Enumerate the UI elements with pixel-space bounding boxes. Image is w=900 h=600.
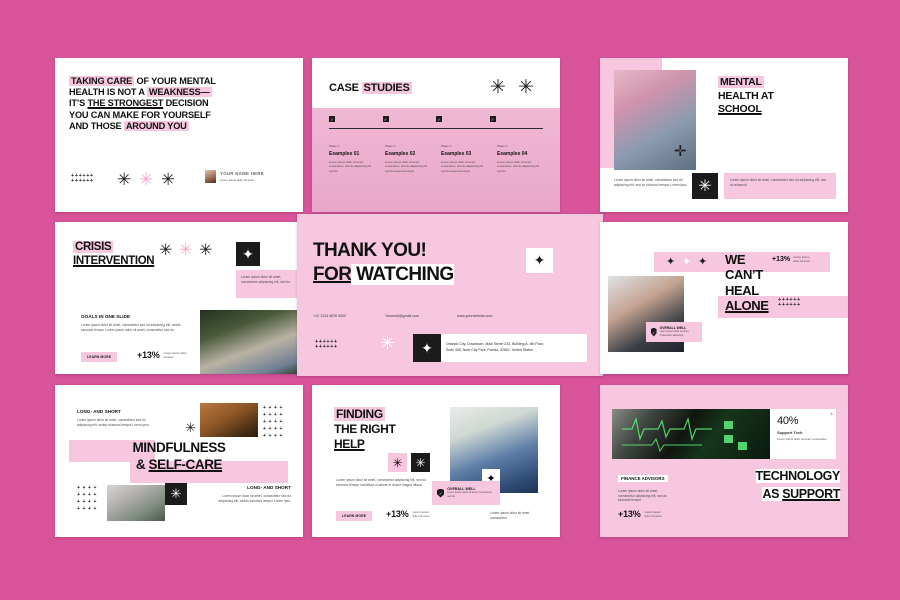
starburst-icon-2: ✳	[179, 243, 192, 259]
body-text: Lorem ipsum dolor sit amet, consectetur …	[336, 478, 432, 487]
timeline-nodes: ✓ ✓ ✓ ✓	[329, 116, 543, 122]
address-line-2: Suite 405, Near City Park, Florida, 3280…	[446, 348, 544, 354]
phase-label: Phase 3	[441, 144, 487, 148]
starburst-icon-2: ✳	[518, 78, 534, 97]
plus-grid-icon: ++++++++++++	[778, 298, 801, 307]
stat-big-body: Lorem ipsum dolor sit amet, consectetur	[777, 437, 829, 441]
overall-well-badge: ✓ OVERALL WELL Lorem ipsum dolor sit ame…	[646, 322, 702, 342]
slide-thumbnail-crisis-intervention[interactable]: CRISIS INTERVENTION ✳ ✳ ✳ ✦ Lorem ipsum …	[55, 222, 303, 374]
photo-monitor	[612, 409, 770, 459]
photo-caption: Lorem ipsum dolor sit amet, consectetur	[490, 511, 542, 520]
phase-label: Phase 1	[329, 144, 375, 148]
phase-label: Phase 4	[497, 144, 543, 148]
sparkle-icon-3: ✦	[698, 255, 707, 268]
timeline-node-4[interactable]: ✓	[490, 116, 496, 122]
title-line-2b: SUPPORT	[782, 487, 840, 501]
slide-thumbnail-finding-help[interactable]: FINDING THE RIGHT HELP ✳ ✳ Lorem ipsum d…	[312, 385, 560, 537]
shield-check-icon: ✓	[651, 328, 657, 337]
quote-highlight-3: AROUND YOU	[124, 121, 189, 131]
phase-heading: Examples 03	[441, 151, 487, 157]
stat-note: Lorem ipsum dolor sit amet	[645, 510, 667, 518]
quote-highlight-2: WEAKNESS—	[147, 87, 212, 97]
phase-heading: Examples 02	[385, 151, 431, 157]
contact-phone[interactable]: +22 1234 9876 9000	[313, 314, 385, 318]
contact-website[interactable]: www.yourwebsite.com	[457, 314, 537, 318]
side-note-card: Lorem ipsum dolor sit amet, consectetur …	[236, 270, 303, 298]
stat-note: Lorem ipsum dolor sit amet	[164, 351, 188, 359]
title-line-1: THANK YOU!	[313, 240, 454, 262]
photo-person-sitting	[200, 310, 303, 374]
slide-thumbnail-quote[interactable]: TAKING CARE OF YOUR MENTAL HEALTH IS NOT…	[55, 58, 303, 212]
bottom-body: Lorem ipsum dolor sit amet, consectetur …	[215, 494, 291, 503]
case-title-a: CASE	[329, 82, 362, 94]
phase-heading: Examples 01	[329, 151, 375, 157]
contact-row: +22 1234 9876 9000 Yourmail@gmail.com ww…	[313, 314, 587, 318]
shield-check-icon: ✓	[437, 489, 444, 498]
ekg-waveform-icon	[612, 409, 770, 459]
quote-text-1: OF YOUR MENTAL	[134, 76, 216, 86]
starburst-icon: ✳	[380, 334, 395, 352]
starburst-icon-3: ✳	[161, 171, 175, 188]
top-heading: LONG- AND SHORT	[77, 409, 157, 414]
stat-block: +13% Lorem ipsum dolor sit amet	[618, 509, 667, 519]
quote-text-4: YOU CAN MAKE FOR YOURSELF	[69, 110, 211, 120]
photo-sofa	[107, 485, 165, 521]
section-body: Lorem ipsum dolor sit amet, consectetur …	[618, 489, 674, 503]
plus-grid-icon: ++++++++++++	[315, 340, 338, 349]
contact-email[interactable]: Yourmail@gmail.com	[385, 314, 457, 318]
starburst-icon: ✳	[692, 173, 718, 199]
overall-well-badge: ✓ OVERALL WELL Lorem ipsum dolor sit ame…	[432, 481, 500, 505]
slide-thumbnail-thank-you[interactable]: THANK YOU! FOR WATCHING ✦ +22 1234 9876 …	[297, 214, 603, 376]
starburst-icon-1: ✳	[490, 78, 506, 97]
quote-text-2: HEALTH IS NOT A	[69, 87, 147, 97]
title-line-3: HEAL	[725, 283, 769, 298]
phase-heading: Examples 04	[497, 151, 543, 157]
top-body: Lorem ipsum dolor sit amet, consectetur …	[77, 418, 157, 427]
quote-text-3b: DECISION	[163, 98, 208, 108]
stat-value: +13%	[772, 256, 790, 263]
quote-highlight-1: TAKING CARE	[69, 76, 134, 86]
starburst-icon-3: ✳	[199, 243, 212, 259]
title-line-2: HEALTH AT	[718, 90, 774, 102]
timeline-node-2[interactable]: ✓	[383, 116, 389, 122]
title-line-2: CAN’T	[725, 267, 769, 282]
title-line-1: MENTAL	[718, 76, 764, 88]
stat-note: Lorem ipsum dolor sit amet	[413, 510, 435, 518]
timeline-item: Phase 2 Examples 02 Lorem ipsum dolor si…	[385, 144, 441, 173]
stat-block: +13% Lorem ipsum dolor sit amet	[772, 255, 813, 263]
timeline-node-1[interactable]: ✓	[329, 116, 335, 122]
learn-more-button[interactable]: LEARN MORE	[336, 511, 372, 521]
title-line-3: HELP	[334, 437, 365, 451]
side-note: Lorem ipsum dolor sit amet, consectetur …	[241, 275, 298, 284]
plus-grid-icon-1: + + + ++ + + ++ + + ++ + + ++ + + +	[263, 405, 283, 440]
phase-body: Lorem ipsum dolor sit amet, consectetur,…	[441, 160, 487, 173]
title-line-1: WE	[725, 252, 769, 267]
quote-text-5: AND THOSE	[69, 121, 124, 131]
stat-value: +13%	[618, 509, 641, 519]
plus-grid-icon: ++++++++++++	[71, 174, 94, 183]
stat-big-value: 40%	[777, 415, 829, 427]
badge-body: Lorem ipsum dolor sit amet, consectetur …	[660, 330, 697, 337]
bottom-heading: LONG- AND SHORT	[215, 485, 291, 490]
slide-thumbnail-mental-health-school[interactable]: ✛ MENTAL HEALTH AT SCHOOL Lorem ipsum do…	[600, 58, 848, 212]
title-line-2: INTERVENTION	[73, 255, 154, 267]
phase-body: Lorem ipsum dolor sit amet, consectetur,…	[497, 160, 543, 173]
quote-text-3: IT’S	[69, 98, 87, 108]
plus-grid-icon-2: + + + ++ + + ++ + + ++ + + +	[77, 485, 97, 513]
title-line-2: THE RIGHT	[334, 422, 452, 437]
title-line-1: MINDFULNESS	[55, 440, 303, 456]
section-heading: GOALS IN ONE SLIDE	[81, 314, 187, 319]
title-line-2b: WATCHING	[351, 264, 453, 285]
sparkle-icon: ✦	[526, 248, 553, 273]
author-subtitle: Lorem ipsum dolor sit amet	[220, 178, 264, 182]
title-line-1: FINDING	[334, 407, 385, 421]
starburst-icon-1: ✳	[117, 171, 131, 188]
note-card: Lorem ipsum dolor sit amet, consectetur …	[724, 173, 836, 199]
body-right: Lorem ipsum dolor sit amet, consectetur …	[730, 178, 830, 187]
stat-note: Lorem ipsum dolor sit amet	[793, 255, 813, 263]
address-card: ✦ Orlando City, Downtown, Main Street 23…	[413, 334, 587, 362]
starburst-icon-2: ✳	[411, 453, 430, 472]
sparkle-icon: ✦	[236, 242, 260, 266]
starburst-icon-1: ✳	[185, 421, 196, 434]
quote-underline-1: THE STRONGEST	[87, 98, 163, 108]
slide-thumbnail-heal-alone[interactable]: ✦ ✦ ✦ WE CAN’T HEAL ALONE +13% Lorem ips…	[600, 222, 848, 374]
avatar	[205, 170, 216, 183]
title-line-2a: FOR	[313, 264, 351, 285]
title-line-2a: AS	[762, 487, 782, 501]
plus-cross-icon: ✛	[674, 144, 687, 159]
body-left: Lorem ipsum dolor sit amet, consectetur …	[614, 178, 690, 187]
timeline-item: Phase 3 Examples 03 Lorem ipsum dolor si…	[441, 144, 497, 173]
title-line-3: SCHOOL	[718, 103, 762, 115]
section-body: Lorem ipsum dolor sit amet, consectetur …	[81, 323, 187, 332]
badge-body: Lorem ipsum dolor sit amet, consectetur …	[447, 491, 495, 499]
stat-card: 40% Support Tech Lorem ipsum dolor sit a…	[770, 409, 836, 459]
stat-big-label: Support Tech	[777, 430, 829, 435]
stat-block: +13% Lorem ipsum dolor sit amet	[137, 350, 188, 360]
stat-value: +13%	[137, 350, 160, 360]
timeline-item: Phase 1 Examples 01 Lorem ipsum dolor si…	[329, 144, 385, 173]
starburst-icon-2: ✳	[139, 171, 153, 188]
phase-body: Lorem ipsum dolor sit amet, consectetur,…	[329, 160, 375, 173]
title-line-1: CRISIS	[73, 241, 113, 253]
photo-couch	[200, 403, 258, 437]
case-title-b: STUDIES	[362, 82, 412, 94]
slide-thumbnail-case-studies[interactable]: CASE STUDIES ✳ ✳ ✓ ✓ ✓ ✓ Phase 1 Example…	[312, 58, 560, 212]
title-line-2a: &	[136, 457, 149, 472]
author-name: YOUR NAME HERE	[220, 171, 264, 176]
stat-value: +13%	[386, 509, 409, 519]
starburst-icon-2: ✳	[165, 483, 187, 505]
timeline-connector	[329, 128, 543, 129]
slide-thumbnail-mindfulness[interactable]: LONG- AND SHORT Lorem ipsum dolor sit am…	[55, 385, 303, 537]
slide-thumbnail-technology[interactable]: 40% Support Tech Lorem ipsum dolor sit a…	[600, 385, 848, 537]
phase-label: Phase 2	[385, 144, 431, 148]
slide-deck-grid: TAKING CARE OF YOUR MENTAL HEALTH IS NOT…	[0, 0, 900, 600]
title-line-2b: SELF-CARE	[149, 457, 223, 472]
timeline-item: Phase 4 Examples 04 Lorem ipsum dolor si…	[497, 144, 553, 173]
section-heading: FINANCE ADVISORS	[618, 475, 668, 482]
learn-more-button[interactable]: LEARN MORE	[81, 352, 117, 362]
timeline-node-3[interactable]: ✓	[436, 116, 442, 122]
starburst-icon-1: ✳	[159, 243, 172, 259]
sparkle-icon-2: ✦	[413, 334, 441, 362]
sparkle-icon-1: ✦	[666, 255, 675, 268]
starburst-icon-1: ✳	[388, 453, 407, 472]
sparkle-icon: ✦	[829, 411, 834, 418]
sparkle-icon-2: ✦	[682, 255, 691, 268]
timeline-panel: ✓ ✓ ✓ ✓ Phase 1 Examples 01 Lorem ipsum …	[312, 108, 560, 212]
author-card[interactable]: YOUR NAME HERE Lorem ipsum dolor sit ame…	[205, 170, 291, 183]
stat-block: +13% Lorem ipsum dolor sit amet	[386, 509, 435, 519]
title-line-1: TECHNOLOGY	[756, 469, 840, 483]
timeline-items: Phase 1 Examples 01 Lorem ipsum dolor si…	[329, 144, 553, 173]
title-line-4: ALONE	[725, 298, 769, 313]
phase-body: Lorem ipsum dolor sit amet, consectetur,…	[385, 160, 431, 173]
